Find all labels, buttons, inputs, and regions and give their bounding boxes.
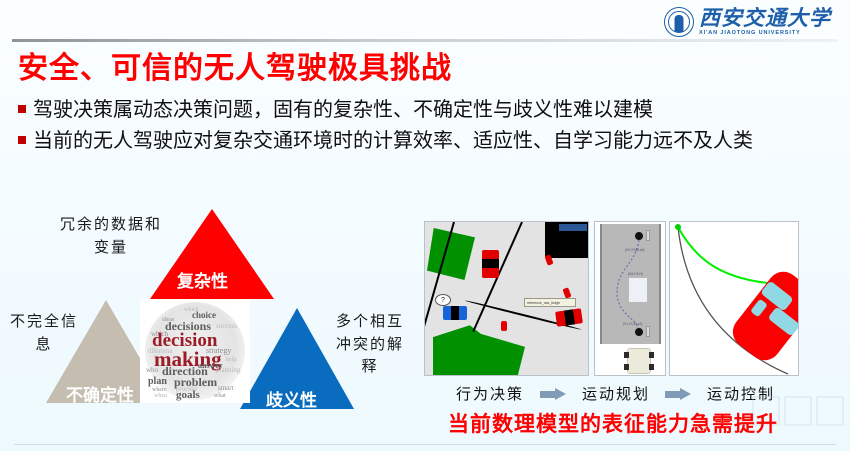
wheel [624, 352, 629, 358]
trajectory-start-point [675, 224, 681, 230]
autonomous-driving-pipeline: ? reference_nav_fudge (X0,Y0,θ0,κ0) (Xd,… [420, 215, 850, 451]
list-item: 当前的无人驾驶应对复杂交通环境时的计算效率、适应性、自学习能力远不及人类 [18, 127, 830, 153]
decision-making-word-cloud: which choice ideas decisions success whi… [140, 299, 250, 403]
waypoint-start [635, 232, 643, 240]
bullet-text: 驾驶决策属动态决策问题，固有的复杂性、不确定性与歧义性难以建模 [33, 96, 653, 122]
vehicle-blue [443, 306, 467, 320]
vehicle-band [564, 309, 575, 325]
vehicle-red [482, 250, 499, 278]
wc-word: who [146, 367, 158, 374]
wheel [649, 364, 654, 370]
obstacle-box [629, 278, 647, 302]
wc-word: plan [148, 377, 167, 387]
ego-vehicle [627, 348, 651, 374]
university-logo: 西安交通大学 XI'AN JIAOTONG UNIVERSITY [664, 3, 840, 41]
mini-titlebar [559, 224, 587, 231]
logo-name-cn: 西安交通大学 [699, 8, 831, 29]
wc-word: when [154, 393, 167, 399]
list-item: 驾驶决策属动态决策问题，固有的复杂性、不确定性与歧义性难以建模 [18, 96, 830, 122]
triangle-label-complexity: 复杂性 [177, 267, 228, 292]
waypoint-label: (X1,Y1,θ1,κ1) [623, 322, 643, 326]
pipeline-step-2: 运动规划 [582, 383, 650, 404]
wheel [649, 352, 654, 358]
pipeline-step-1: 行为决策 [456, 383, 524, 404]
wc-word: success [216, 323, 237, 330]
heading-arrow-icon [646, 326, 650, 337]
obstacle-label: (Xd,Y,S,H) [628, 272, 643, 276]
bullet-text: 当前的无人驾驶应对复杂交通环境时的计算效率、适应性、自学习能力远不及人类 [33, 127, 753, 153]
wc-word: goals [176, 390, 200, 401]
arrow-right-icon [540, 388, 566, 400]
wc-word: planning [216, 367, 241, 374]
question-bubble-icon: ? [435, 294, 451, 306]
wheel [624, 364, 629, 370]
behavior-decision-scene: ? reference_nav_fudge [424, 221, 589, 376]
header-divider [12, 39, 838, 42]
bullet-square-icon [18, 105, 26, 113]
motion-planning-scene: (X0,Y0,θ0,κ0) (Xd,Y,S,H) (X1,Y1,θ1,κ1) [594, 221, 666, 376]
vehicle-band [482, 259, 499, 268]
logo-wordmark: 西安交通大学 XI'AN JIAOTONG UNIVERSITY [699, 8, 831, 37]
bullet-list: 驾驶决策属动态决策问题，固有的复杂性、不确定性与歧义性难以建模 当前的无人驾驶应… [18, 96, 830, 159]
wc-word: what [214, 393, 226, 399]
university-seal-icon [664, 7, 694, 37]
wc-word: smart [218, 385, 234, 392]
bullet-square-icon [18, 136, 26, 144]
waypoint-label: (X0,Y0,θ0,κ0) [625, 248, 645, 252]
heading-arrow-icon [646, 230, 650, 241]
logo-name-en: XI'AN JIAOTONG UNIVERSITY [699, 31, 831, 37]
vehicle-band [451, 306, 459, 320]
wc-word: help [226, 357, 236, 363]
triangle-label-ambiguity: 歧义性 [266, 386, 317, 411]
motion-control-scene [669, 221, 799, 376]
conclusion-text: 当前数理模型的表征能力急需提升 [448, 408, 778, 438]
page-title: 安全、可信的无人驾驶极具挑战 [18, 43, 452, 87]
waypoint-end [635, 328, 643, 336]
vehicle-small [501, 321, 507, 331]
challenge-triangle-diagram: 冗余的数据和变量 不完全信息 多个相互冲突的解释 which choice id… [0, 205, 420, 451]
slide-root: 西安交通大学 XI'AN JIAOTONG UNIVERSITY 安全、可信的无… [0, 0, 850, 451]
scene-tooltip: reference_nav_fudge [524, 298, 576, 307]
arrow-right-icon [665, 388, 691, 400]
footer-divider [14, 444, 836, 445]
triangle-label-uncertainty: 不确定性 [66, 381, 134, 406]
